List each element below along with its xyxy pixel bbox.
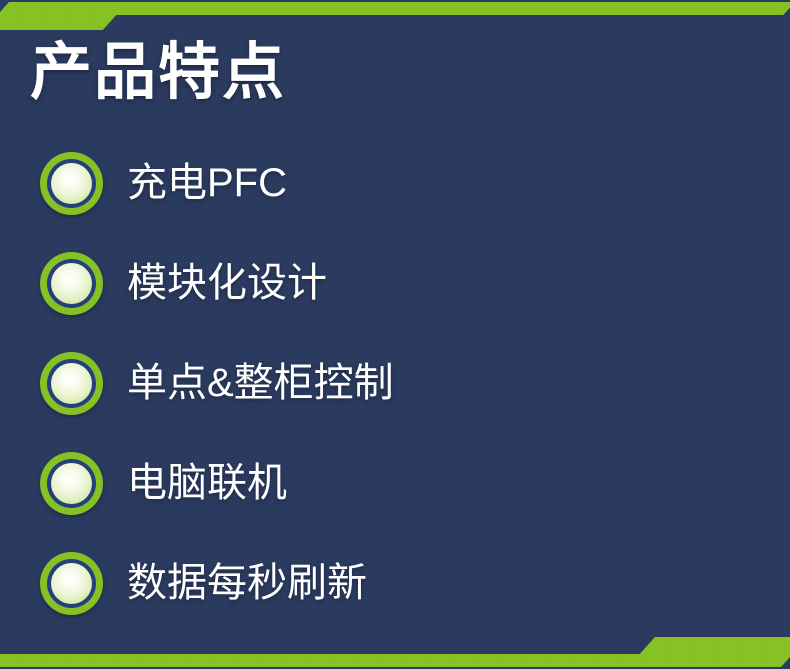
product-features-poster: 产品特点 充电PFC放电回馈电网模块化设计通道隔离单点&整柜控制通道并联电脑联机… [0,0,790,669]
feature-item: 电脑联机 [0,433,395,533]
green-dot-core [51,263,92,304]
top-left-chevron-decoration [0,2,128,30]
green-dot-icon [40,252,103,315]
feature-list: 充电PFC放电回馈电网模块化设计通道隔离单点&整柜控制通道并联电脑联机强大数据库… [0,133,790,613]
feature-item: 强大数据库 [395,433,790,533]
bottom-right-chevron-decoration [628,637,790,667]
green-dot-core [51,163,92,204]
feature-label: 充电PFC [127,163,287,203]
feature-item: 通道隔离 [395,233,790,333]
green-dot-icon [40,352,103,415]
feature-item: 模块化设计 [0,233,395,333]
feature-label: 单点&整柜控制 [127,363,394,403]
feature-label: 数据每秒刷新 [127,563,367,603]
bottom-right-bar-decoration [0,654,642,667]
green-dot-core [51,563,92,604]
feature-item: 多种保护 [395,533,790,633]
top-left-bar-decoration [111,2,790,15]
green-dot-core [51,463,92,504]
feature-label: 模块化设计 [127,263,327,303]
feature-item: 放电回馈电网 [395,133,790,233]
feature-item: 单点&整柜控制 [0,333,395,433]
feature-item: 充电PFC [0,133,395,233]
feature-item: 通道并联 [395,333,790,433]
green-dot-icon [40,552,103,615]
feature-label: 电脑联机 [127,463,287,503]
feature-item: 数据每秒刷新 [0,533,395,633]
green-dot-icon [40,152,103,215]
green-dot-core [51,363,92,404]
green-dot-icon [40,452,103,515]
page-title: 产品特点 [30,42,286,104]
